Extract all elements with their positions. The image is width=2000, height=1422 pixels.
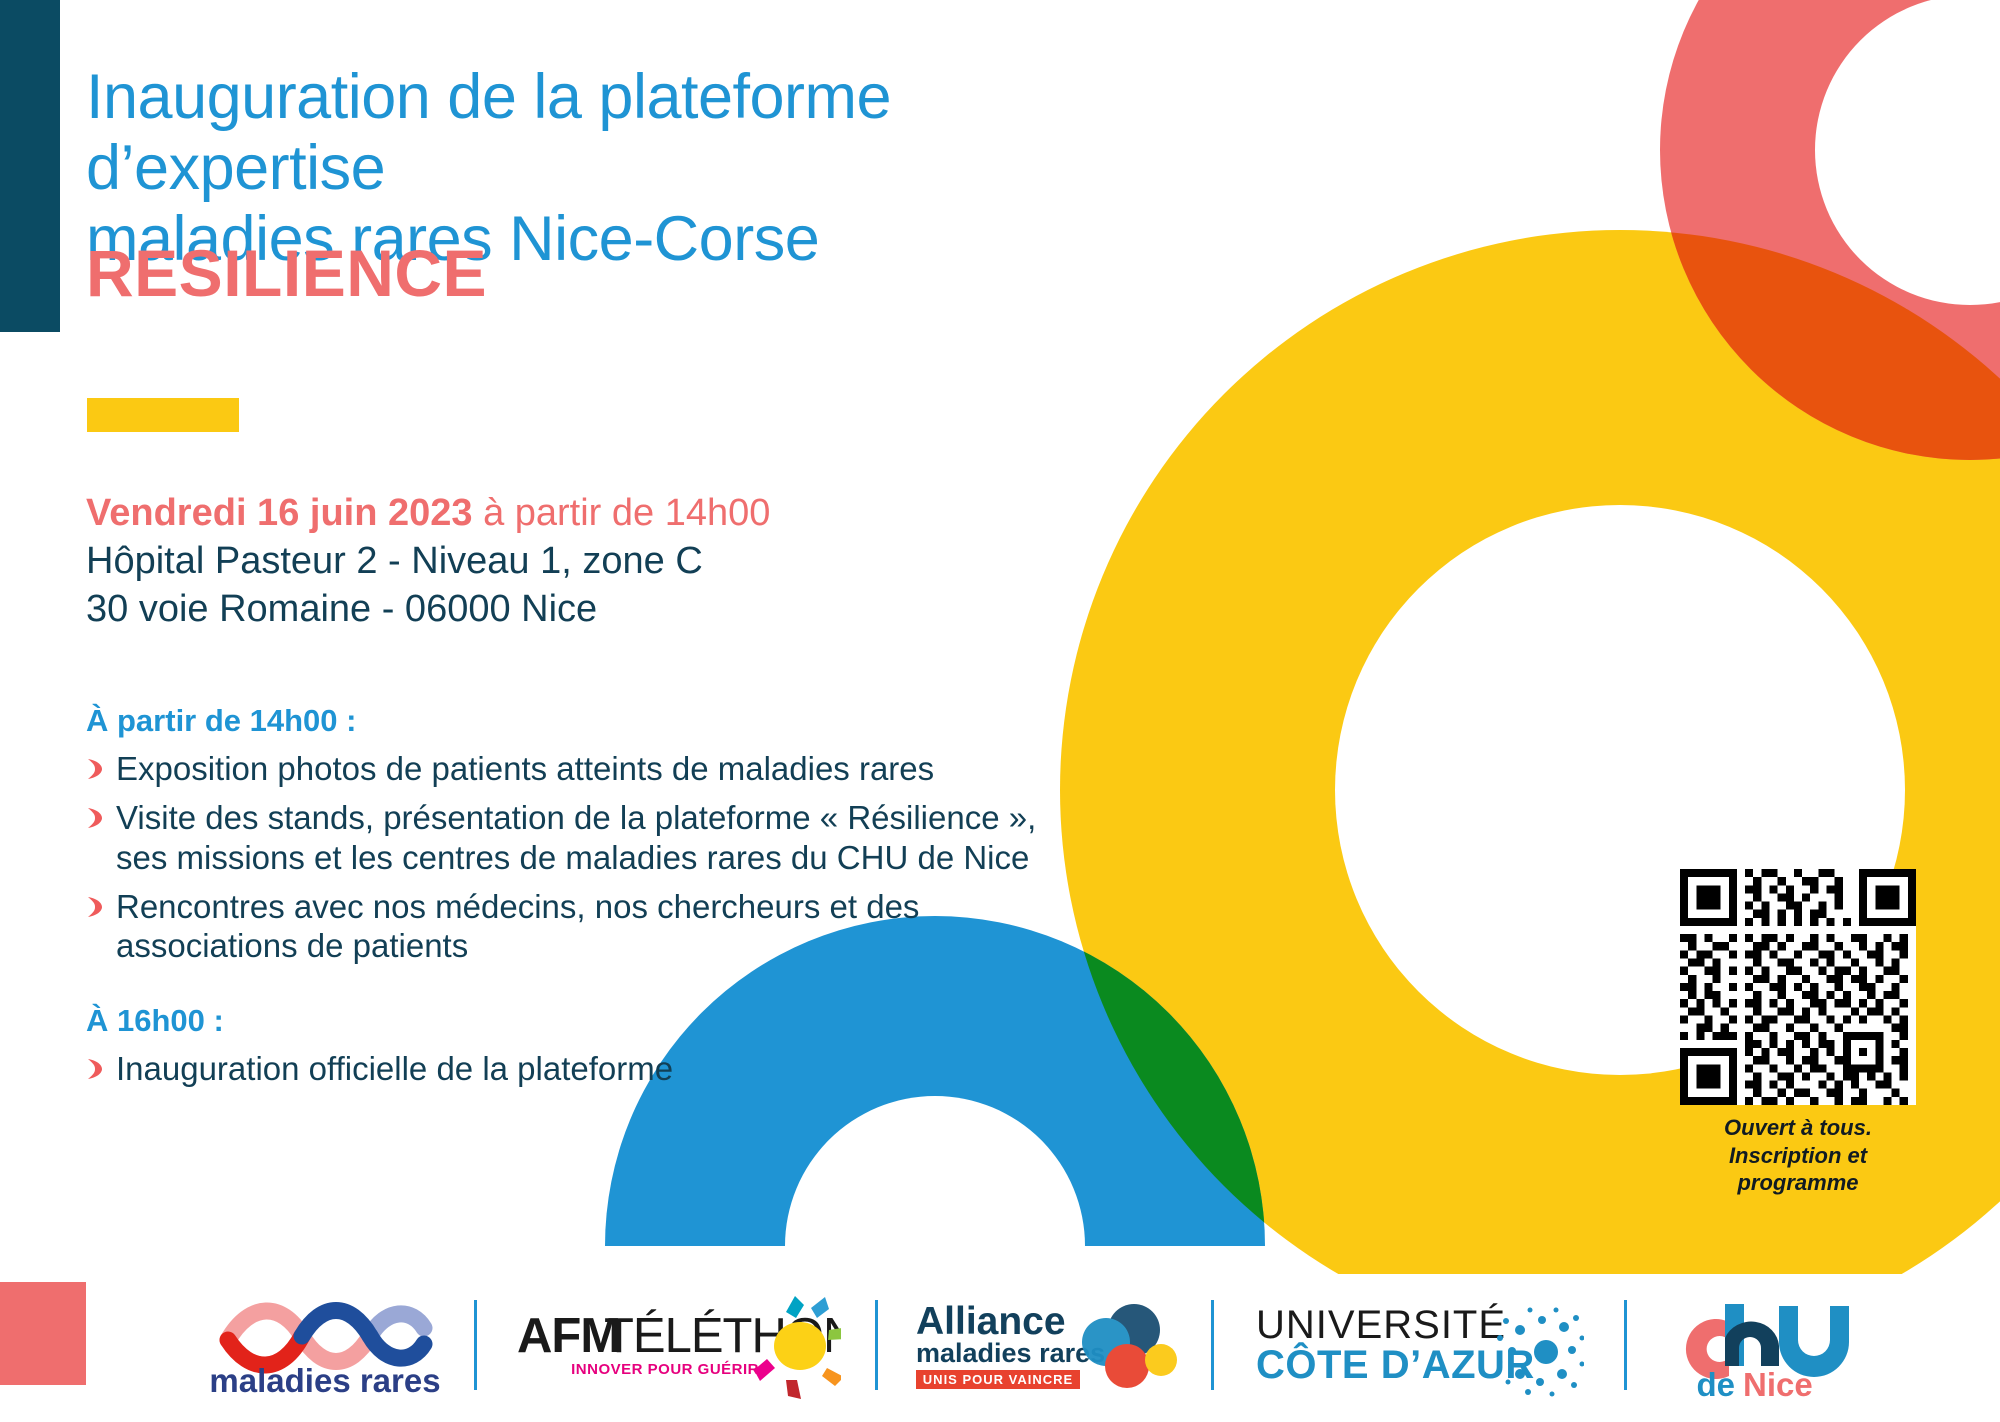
logo-chu-label-nice: Nice: [1743, 1366, 1813, 1403]
logo-alliance-label-sub: maladies rares: [916, 1338, 1105, 1368]
list-item: Rencontres avec nos médecins, nos cherch…: [86, 887, 1086, 967]
logo-divider: [1624, 1300, 1627, 1390]
qr-code-icon[interactable]: [1679, 869, 1917, 1105]
logo-chu-label-de: de: [1696, 1366, 1735, 1403]
list-item-label: Inauguration officielle de la plateforme: [116, 1050, 673, 1087]
list-item-label: Exposition photos de patients atteints d…: [116, 750, 934, 787]
qr-caption: Ouvert à tous. Inscription et programme: [1679, 1114, 1917, 1197]
logo-divider: [474, 1300, 477, 1390]
dotted-circle-icon: [1497, 1308, 1584, 1397]
logo-afm-tagline: INNOVER POUR GUÉRIR: [571, 1361, 759, 1378]
subtitle-resilience: RESILIENCE: [86, 240, 487, 306]
logo-divider: [875, 1300, 878, 1390]
logo-uca-label-bottom: CÔTE D’AZUR: [1256, 1341, 1535, 1387]
event-date-rest: à partir de 14h00: [473, 492, 771, 534]
logo-chu-de-nice: de Nice: [1667, 1285, 1877, 1405]
program-schedule: À partir de 14h00 : Exposition photos de…: [86, 702, 1086, 1098]
list-item-label: Rencontres avec nos médecins, nos cherch…: [116, 888, 919, 965]
logo-universite-cote-dazur: UNIVERSITÉ CÔTE D’AZUR: [1254, 1285, 1584, 1405]
logo-alliance-label-main: Alliance: [916, 1300, 1066, 1343]
list-item: Exposition photos de patients atteints d…: [86, 749, 1086, 789]
yellow-divider-rule: [87, 398, 239, 432]
event-date-line: Vendredi 16 juin 2023 à partir de 14h00: [86, 490, 1086, 538]
crescent-bullet-icon: [86, 807, 104, 829]
alliance-bubbles-icon: [1082, 1304, 1177, 1388]
logo-maladies-rares-label: maladies rares: [210, 1362, 440, 1399]
list-item-label: Visite des stands, présentation de la pl…: [116, 799, 1036, 876]
logo-divider: [1211, 1300, 1214, 1390]
event-date-strong: Vendredi 16 juin 2023: [86, 492, 473, 534]
qr-registration-block[interactable]: Ouvert à tous. Inscription et programme: [1679, 869, 1917, 1197]
list-item: Inauguration officielle de la plateforme: [86, 1049, 1086, 1089]
program-list-1: Exposition photos de patients atteints d…: [86, 749, 1086, 967]
partner-logos-footer: maladies rares AFM TÉLÉTHON INNOVER POUR…: [0, 1275, 2000, 1422]
logo-alliance-banner: UNIS POUR VAINCRE: [923, 1372, 1073, 1387]
event-venue: Hôpital Pasteur 2 - Niveau 1, zone C: [86, 538, 1086, 586]
qr-caption-line-2: Inscription et: [1679, 1142, 1917, 1170]
logo-maladies-rares: maladies rares: [210, 1285, 440, 1405]
event-poster: Inauguration de la plateforme d’expertis…: [0, 0, 2000, 1422]
crescent-bullet-icon: [86, 1058, 104, 1080]
program-heading-1: À partir de 14h00 :: [86, 702, 1086, 741]
list-item: Visite des stands, présentation de la pl…: [86, 798, 1086, 878]
program-heading-2: À 16h00 :: [86, 1002, 1086, 1041]
logo-alliance-maladies-rares: Alliance maladies rares UNIS POUR VAINCR…: [912, 1285, 1177, 1405]
qr-caption-line-3: programme: [1679, 1169, 1917, 1197]
event-address: 30 voie Romaine - 06000 Nice: [86, 586, 1086, 634]
event-details: Vendredi 16 juin 2023 à partir de 14h00 …: [86, 490, 1086, 634]
qr-caption-line-1: Ouvert à tous.: [1679, 1114, 1917, 1142]
crescent-bullet-icon: [86, 896, 104, 918]
title-line-1: Inauguration de la plateforme d’expertis…: [86, 62, 1146, 204]
logo-afm-telethon: AFM TÉLÉTHON INNOVER POUR GUÉRIR: [511, 1285, 841, 1405]
crescent-bullet-icon: [86, 758, 104, 780]
program-list-2: Inauguration officielle de la plateforme: [86, 1049, 1086, 1089]
left-accent-bar-navy: [0, 0, 60, 332]
logo-uca-label-top: UNIVERSITÉ: [1256, 1302, 1506, 1347]
